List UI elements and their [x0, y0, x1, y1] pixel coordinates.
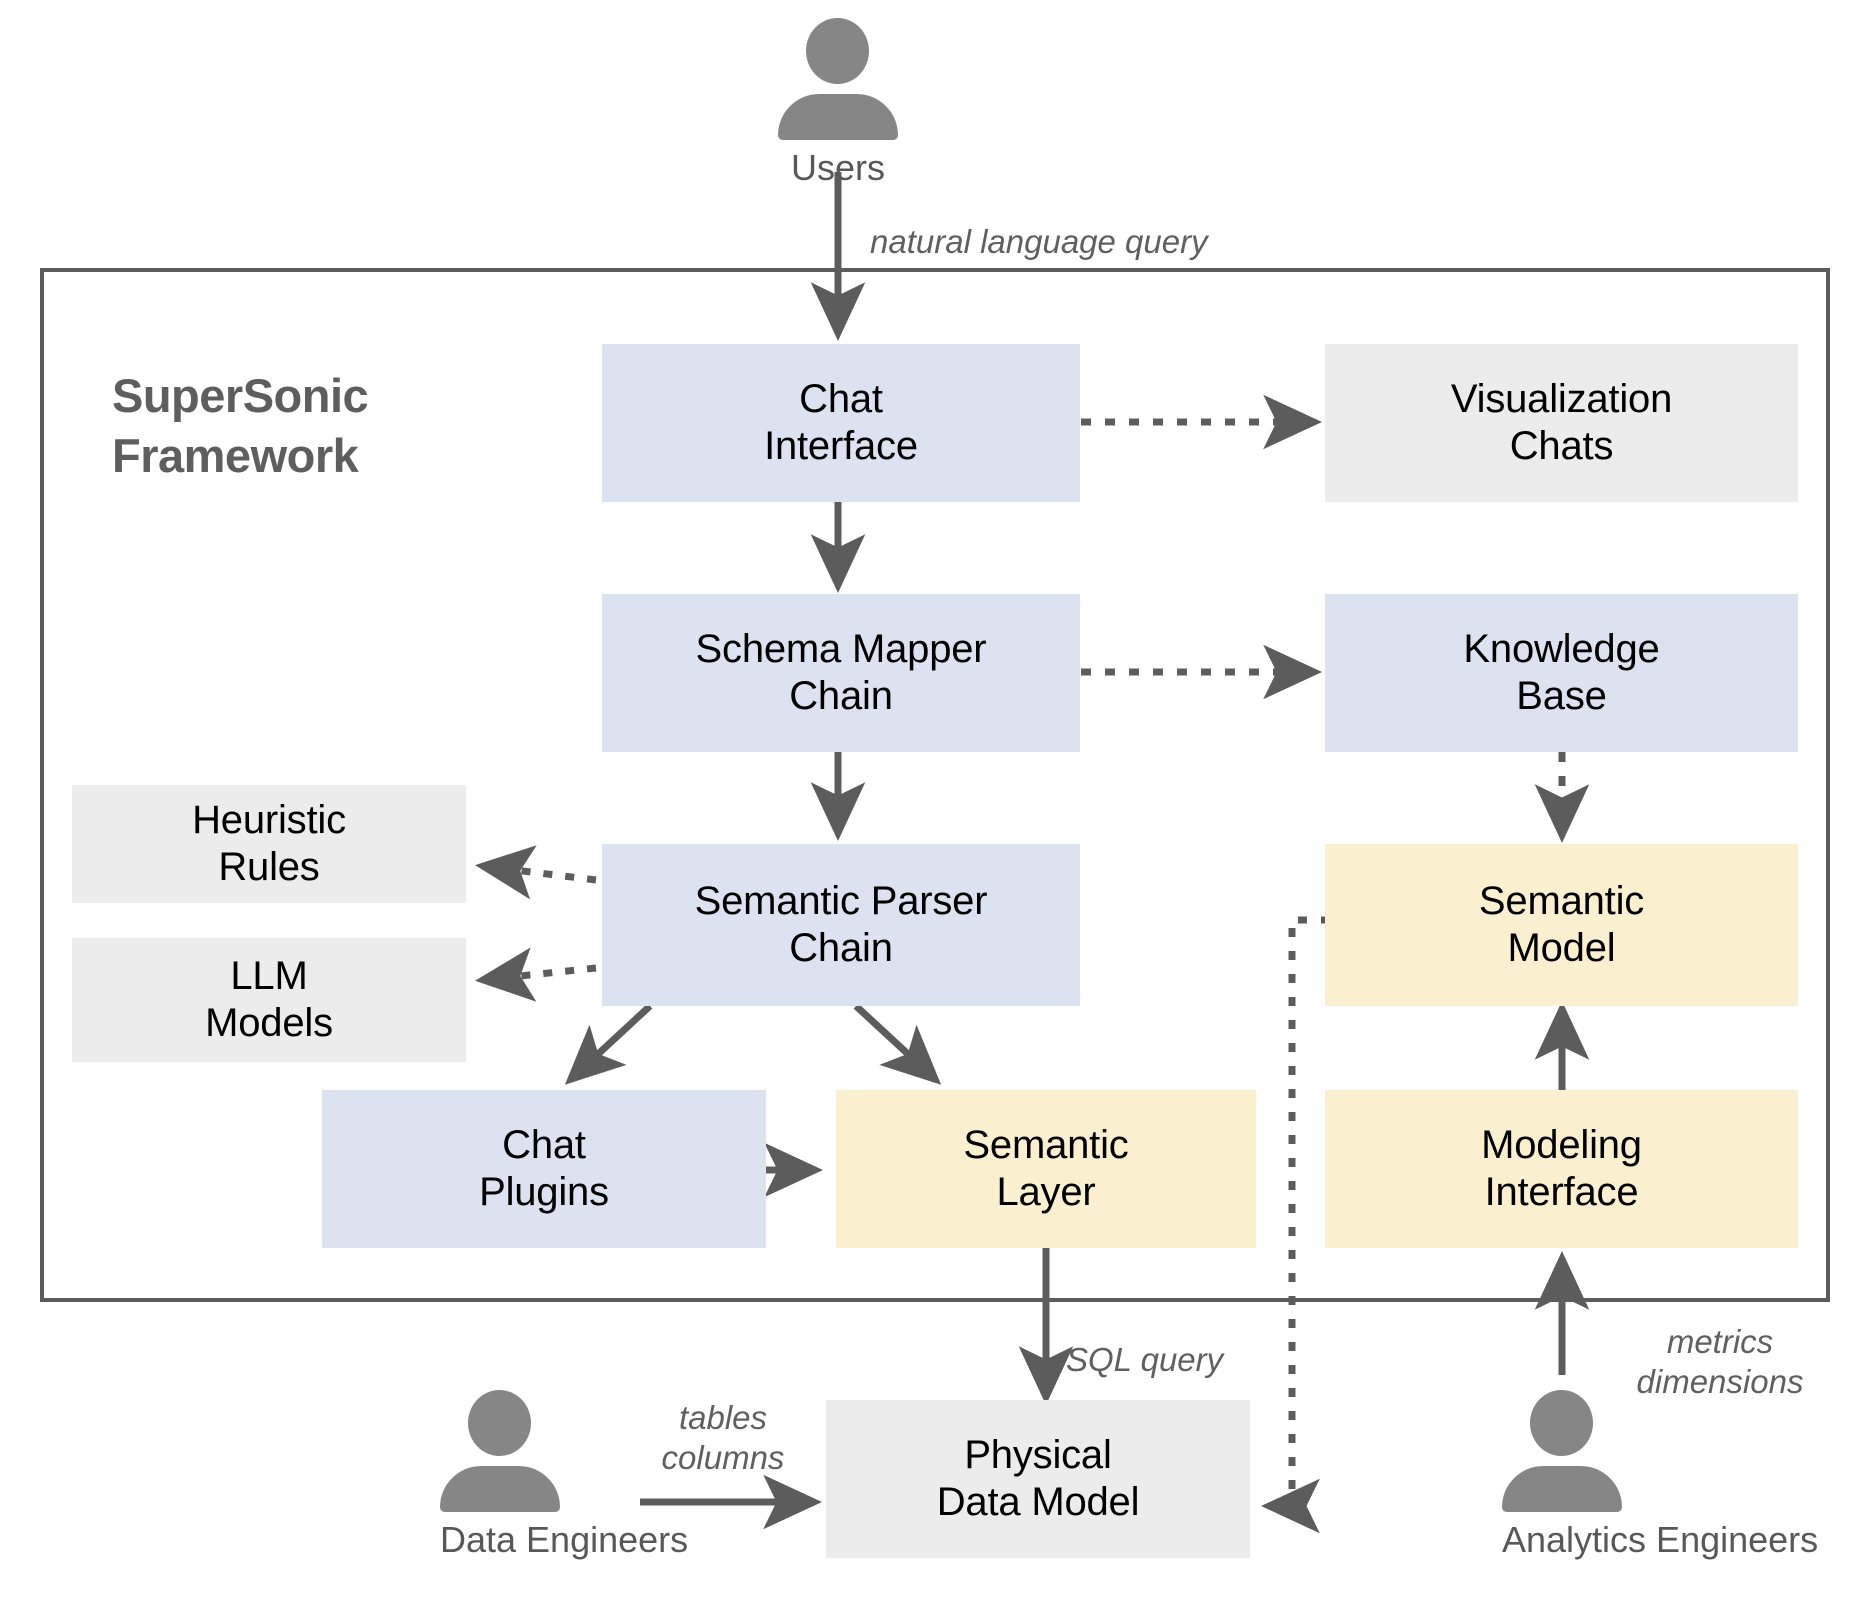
node-physical-data-model[interactable]: Physical Data Model — [826, 1400, 1250, 1558]
user-icon — [440, 1390, 560, 1512]
node-knowledge-base[interactable]: Knowledge Base — [1325, 594, 1798, 752]
actor-data-engineers-label: Data Engineers — [440, 1519, 560, 1561]
diagram-canvas: SuperSonic Framework Users Data Engineer… — [0, 0, 1874, 1600]
user-icon-head — [1530, 1390, 1593, 1456]
actor-users[interactable]: Users — [778, 18, 898, 189]
actor-users-label: Users — [778, 147, 898, 189]
actor-data-engineers[interactable]: Data Engineers — [440, 1390, 560, 1561]
edge-label-natural-language-query: natural language query — [870, 222, 1290, 262]
framework-title: SuperSonic Framework — [112, 366, 442, 486]
actor-analytics-engineers-label: Analytics Engineers — [1502, 1519, 1622, 1561]
user-icon-body — [440, 1466, 560, 1512]
actor-analytics-engineers[interactable]: Analytics Engineers — [1502, 1390, 1622, 1561]
edge-label-sql-query: SQL query — [1066, 1340, 1326, 1380]
user-icon-body — [778, 94, 898, 140]
edge-label-tables-columns: tables columns — [628, 1398, 818, 1477]
user-icon-head — [806, 18, 869, 84]
node-semantic-parser-chain[interactable]: Semantic Parser Chain — [602, 844, 1080, 1006]
user-icon-body — [1502, 1466, 1622, 1512]
node-heuristic-rules[interactable]: Heuristic Rules — [72, 785, 466, 903]
user-icon-head — [468, 1390, 531, 1456]
user-icon — [1502, 1390, 1622, 1512]
user-icon — [778, 18, 898, 140]
node-chat-interface[interactable]: Chat Interface — [602, 344, 1080, 502]
node-semantic-model[interactable]: Semantic Model — [1325, 844, 1798, 1006]
node-visualization-chats[interactable]: Visualization Chats — [1325, 344, 1798, 502]
node-semantic-layer[interactable]: Semantic Layer — [836, 1090, 1256, 1248]
node-chat-plugins[interactable]: Chat Plugins — [322, 1090, 766, 1248]
node-schema-mapper-chain[interactable]: Schema Mapper Chain — [602, 594, 1080, 752]
node-modeling-interface[interactable]: Modeling Interface — [1325, 1090, 1798, 1248]
node-llm-models[interactable]: LLM Models — [72, 938, 466, 1062]
edge-label-metrics-dimensions: metrics dimensions — [1600, 1322, 1840, 1401]
